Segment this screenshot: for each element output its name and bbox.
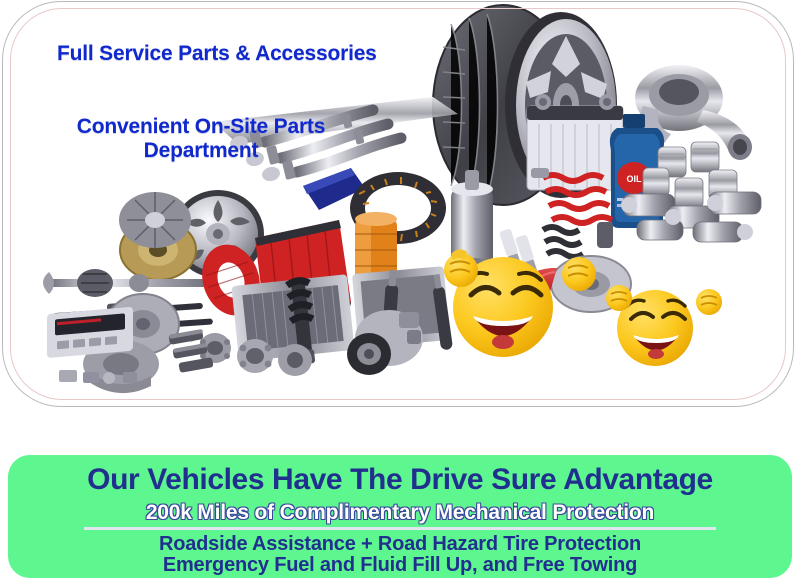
laughing-emoji-small [606,285,722,366]
panel-headline-primary: Full Service Parts & Accessories [57,42,377,66]
clutch-disc-and-pressure-plate [119,192,196,280]
car-audio-amplifier [47,307,133,359]
emoji-small-fist-left [606,285,632,311]
promo-detail-line-1: Roadside Assistance + Road Hazard Tire P… [8,533,792,556]
panel-headline-secondary: Convenient On-Site Parts Department [51,115,351,163]
parts-panel: OIL [3,2,793,406]
promo-banner: Our Vehicles Have The Drive Sure Advanta… [8,455,792,578]
promo-subline: 200k Miles of Complimentary Mechanical P… [8,501,792,525]
emoji-small-fist-right [696,289,722,315]
emoji-fist-right [562,257,596,291]
promo-headline: Our Vehicles Have The Drive Sure Advanta… [8,463,792,497]
promo-subline-underline [84,527,716,530]
svg-text:OIL: OIL [627,174,643,184]
promo-detail-line-2: Emergency Fuel and Fluid Fill Up, and Fr… [8,554,792,577]
